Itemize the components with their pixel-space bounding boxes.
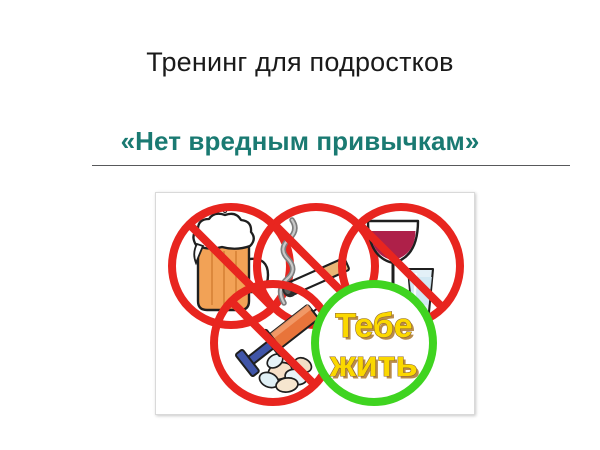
page-title: Тренинг для подростков: [0, 47, 600, 78]
no-bad-habits-poster: Тебе Тебе жить жить: [156, 193, 475, 415]
slogan-line2: жить: [329, 343, 417, 384]
page-subtitle: «Нет вредным привычкам»: [0, 126, 600, 157]
slide-root: Тренинг для подростков «Нет вредным прив…: [0, 0, 600, 450]
slogan-line1: Тебе: [335, 307, 412, 345]
illustration-frame: Тебе Тебе жить жить: [155, 192, 475, 415]
slogan-icon: Тебе Тебе жить жить: [329, 307, 420, 387]
title-divider: [92, 165, 570, 166]
